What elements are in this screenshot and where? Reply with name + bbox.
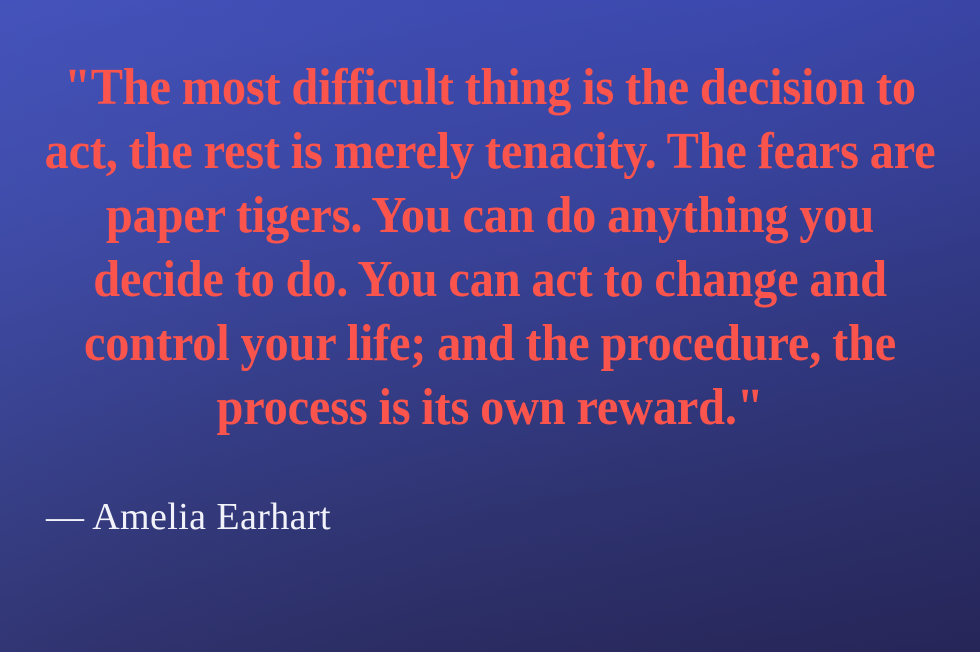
quote-card: "The most difficult thing is the decisio… [0,0,980,652]
quote-text: "The most difficult thing is the decisio… [38,56,942,440]
quote-block: "The most difficult thing is the decisio… [0,56,980,440]
quote-attribution: — Amelia Earhart [46,490,331,544]
